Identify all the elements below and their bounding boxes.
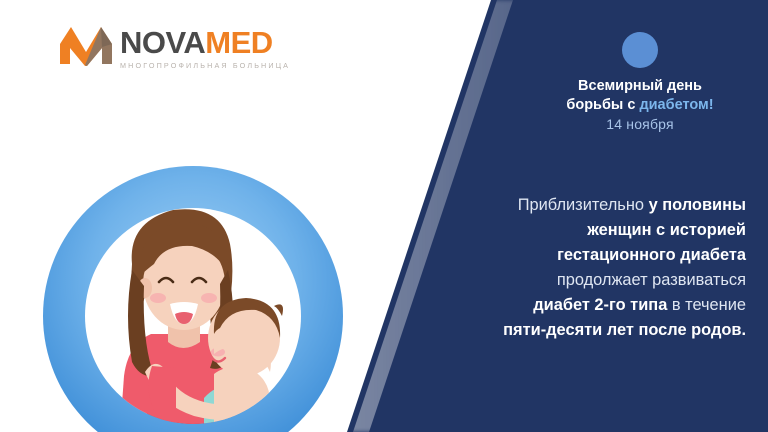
message-line-1-bold: у половины — [649, 196, 746, 214]
logo-word-nova: NOVA — [120, 25, 205, 60]
message-line-1-light: Приблизительно — [518, 196, 649, 214]
header-line-2: борьбы с диабетом! — [540, 96, 740, 115]
awareness-day-header: Всемирный день борьбы с диабетом! 14 ноя… — [540, 32, 740, 132]
header-line-2-accent: диабетом! — [639, 97, 713, 113]
mother-blush-left — [150, 293, 166, 303]
novamed-logo[interactable]: NOVAMED МНОГОПРОФИЛЬНАЯ БОЛЬНИЦА — [58, 24, 290, 70]
mother-blush-right — [201, 293, 217, 303]
novamed-m-mark-icon — [58, 24, 114, 66]
poster-canvas: NOVAMED МНОГОПРОФИЛЬНАЯ БОЛЬНИЦА — [0, 0, 768, 432]
blue-circle-icon — [622, 32, 658, 68]
main-message: Приблизительно у половины женщин с истор… — [418, 193, 758, 343]
message-line-3: гестационного диабета — [418, 243, 746, 268]
logo-wordmark: NOVAMED — [120, 27, 290, 58]
message-line-5: диабет 2-го типа в течение — [418, 293, 746, 318]
message-line-5-bold: диабет 2-го типа — [533, 296, 667, 314]
message-line-2: женщин с историей — [418, 218, 746, 243]
logo-word-med: MED — [205, 25, 272, 60]
logo-tagline: МНОГОПРОФИЛЬНАЯ БОЛЬНИЦА — [120, 61, 290, 70]
header-line-1: Всемирный день — [540, 77, 740, 96]
logo-text-block: NOVAMED МНОГОПРОФИЛЬНАЯ БОЛЬНИЦА — [120, 24, 290, 70]
message-line-4: продолжает развиваться — [418, 268, 746, 293]
header-line-2-plain: борьбы с — [566, 97, 639, 113]
message-line-5-light: в течение — [667, 296, 746, 314]
awareness-day-date: 14 ноября — [540, 116, 740, 132]
mother-and-baby-illustration — [8, 166, 378, 432]
message-line-1: Приблизительно у половины — [418, 193, 746, 218]
message-line-6: пяти-десяти лет после родов. — [418, 318, 746, 343]
